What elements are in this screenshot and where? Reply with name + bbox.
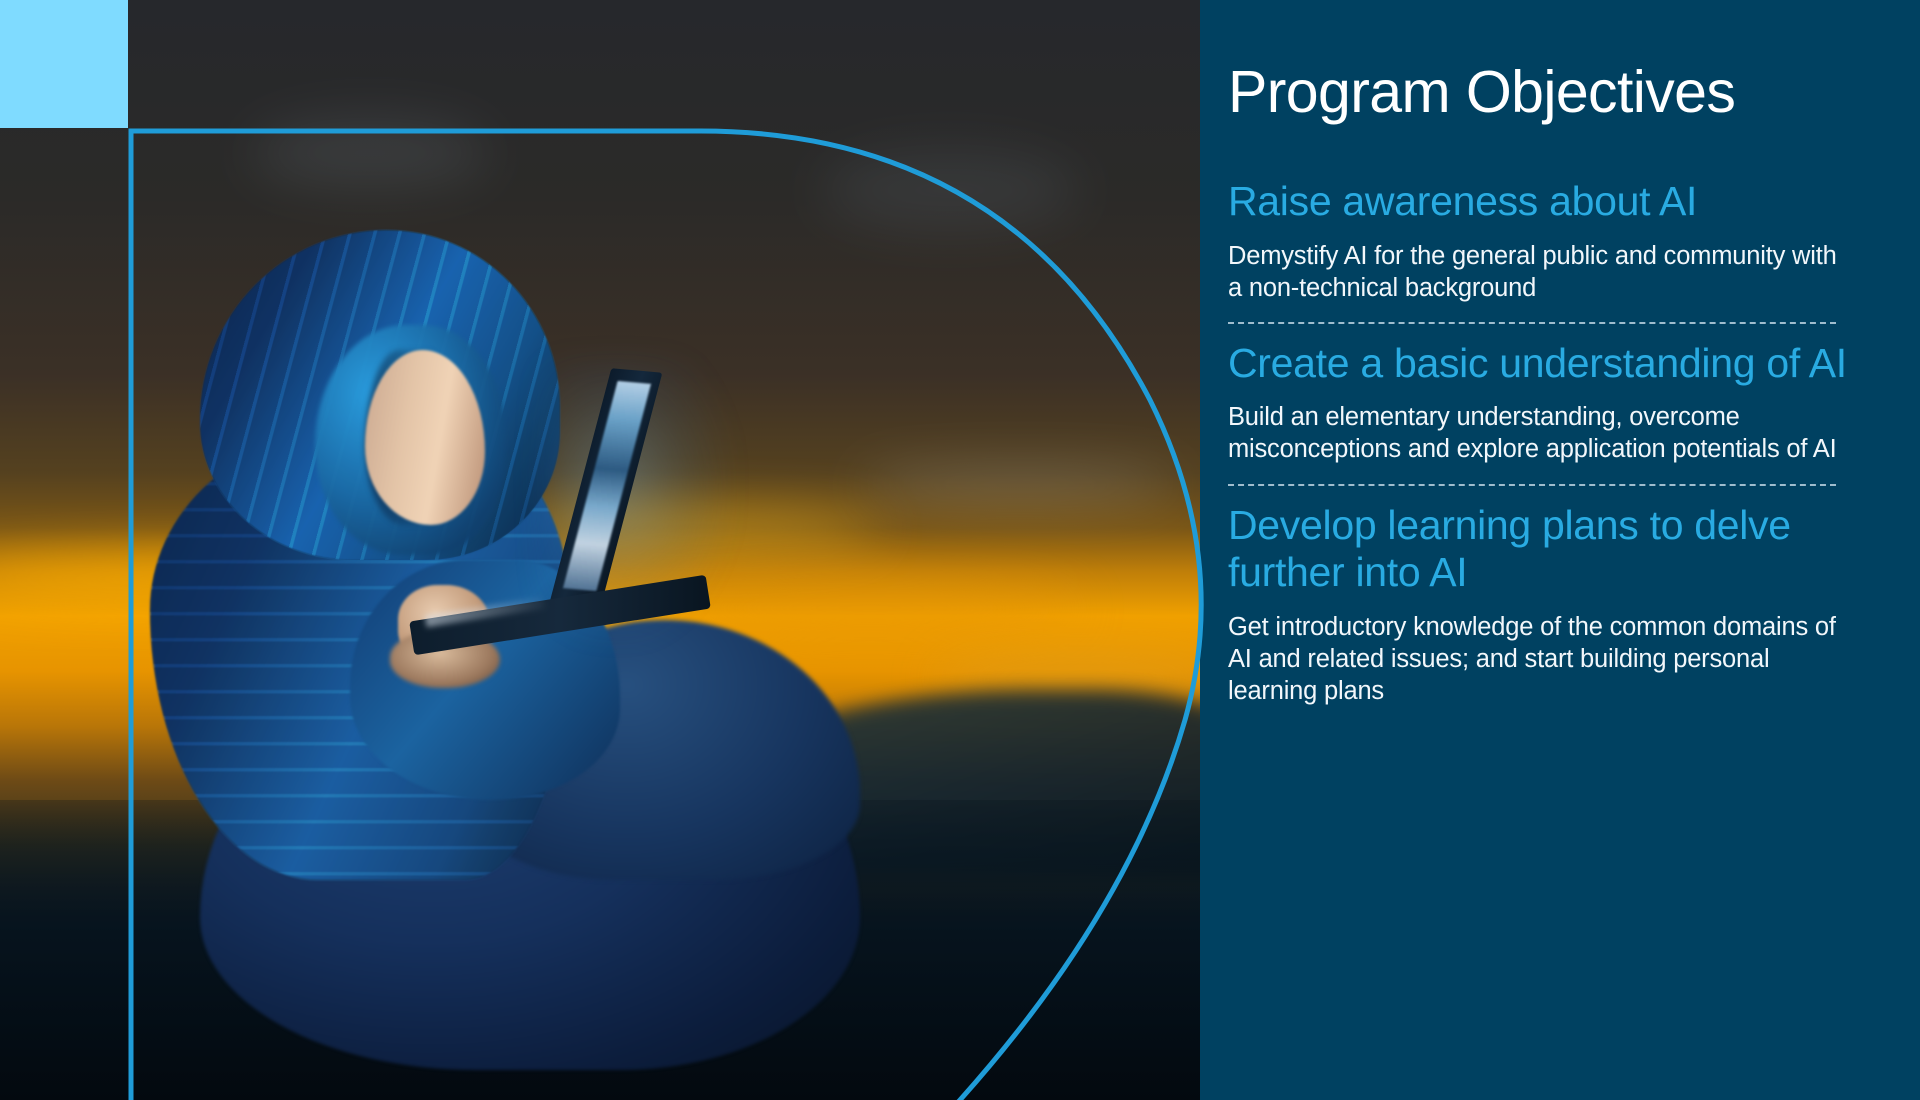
page-title: Program Objectives — [1228, 58, 1735, 126]
objectives-list: Raise awareness about AI Demystify AI fo… — [1228, 178, 1888, 707]
cyan-square-accent — [0, 0, 128, 128]
objective-body: Get introductory knowledge of the common… — [1228, 611, 1848, 707]
objective-divider — [1228, 484, 1836, 486]
slide: Program Objectives Raise awareness about… — [0, 0, 1920, 1100]
objective-item: Raise awareness about AI Demystify AI fo… — [1228, 178, 1888, 304]
cloud-haze — [250, 118, 490, 188]
content-panel: Program Objectives Raise awareness about… — [1228, 0, 1888, 1100]
objective-body: Build an elementary understanding, overc… — [1228, 401, 1848, 465]
objective-heading: Develop learning plans to delve further … — [1228, 502, 1888, 597]
objective-item: Develop learning plans to delve further … — [1228, 502, 1888, 707]
background-photo — [0, 0, 1200, 1100]
objective-heading: Create a basic understanding of AI — [1228, 340, 1888, 388]
objective-heading: Raise awareness about AI — [1228, 178, 1888, 226]
sunset-glow — [860, 470, 1180, 500]
cloud-haze — [820, 150, 1080, 230]
objective-divider — [1228, 322, 1836, 324]
objective-body: Demystify AI for the general public and … — [1228, 240, 1848, 304]
objective-item: Create a basic understanding of AI Build… — [1228, 340, 1888, 466]
laptop — [430, 370, 760, 670]
